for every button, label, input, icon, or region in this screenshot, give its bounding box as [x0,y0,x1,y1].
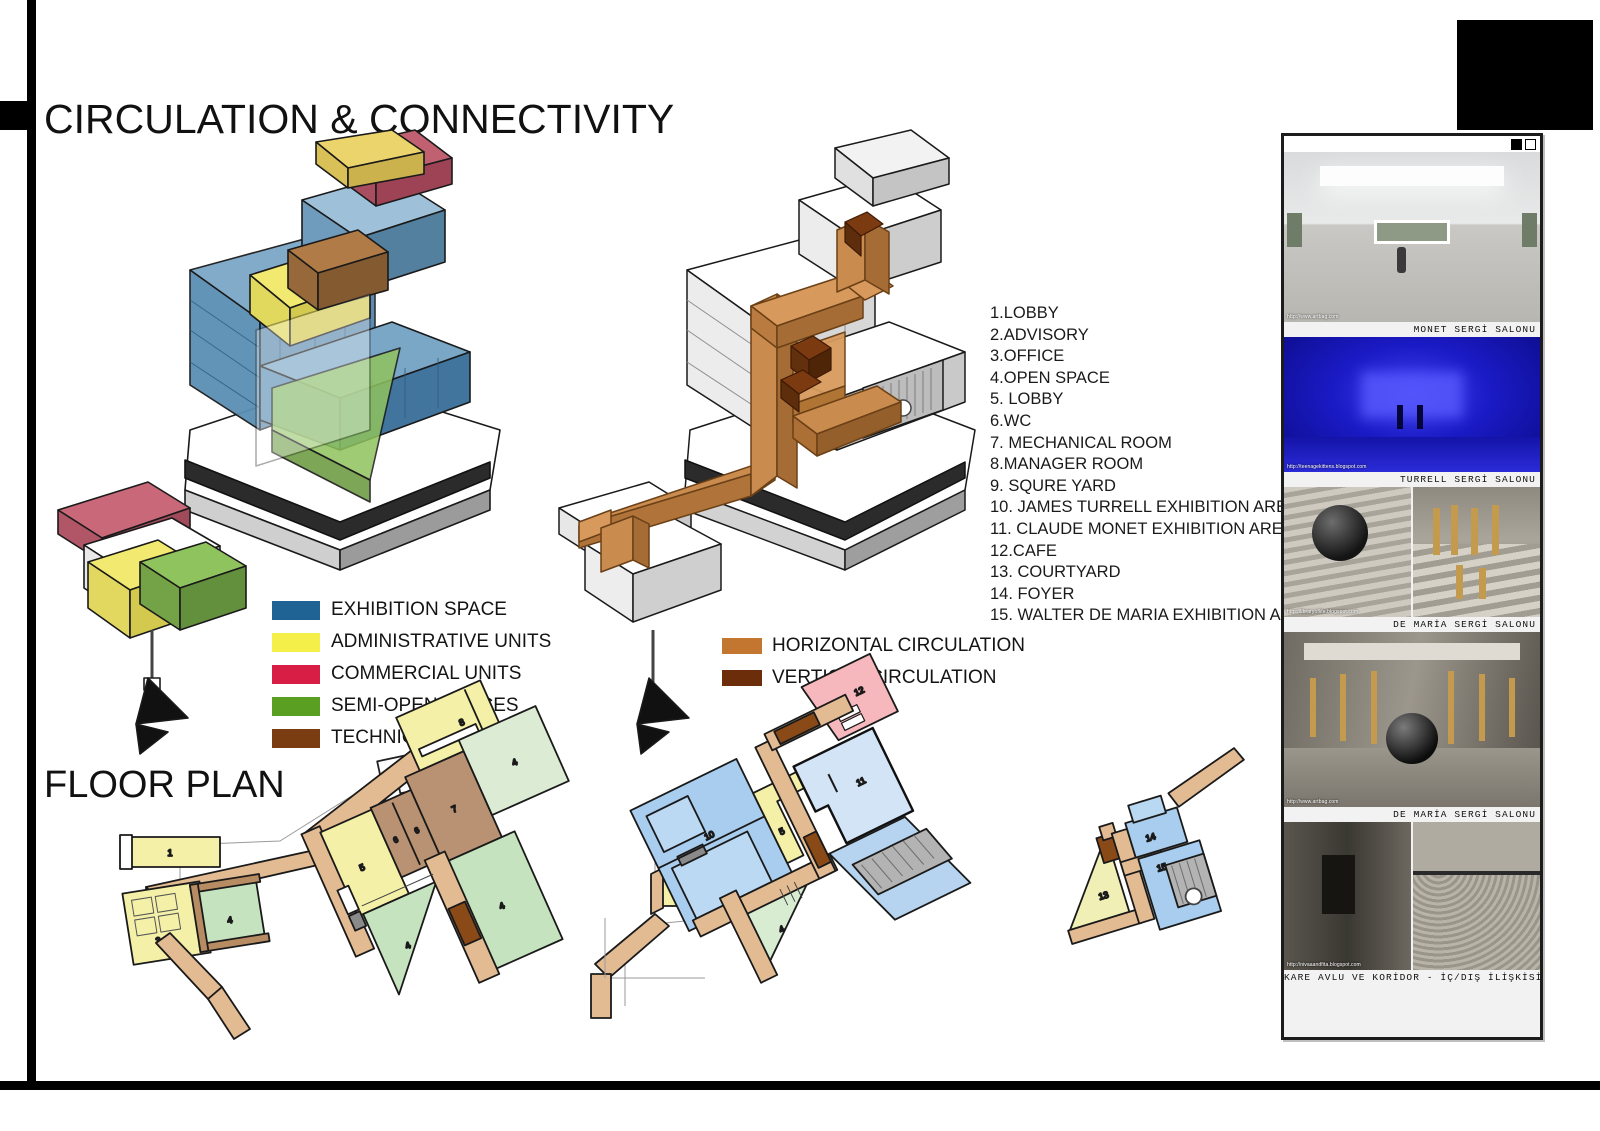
room-legend-item: 1.LOBBY [990,303,1300,325]
photo-caption-courtyard: KARE AVLU VE KORİDOR - İÇ/DIŞ İLİŞKİSİ [1284,970,1540,985]
floor-plan-level-3: 13 14 15 [1040,800,1270,940]
legend-swatch [722,670,762,686]
legend-label: COMMERCIAL UNITS [331,663,521,685]
de-maria-photo-pair: http://libraryoflife.blogspot.com [1284,487,1540,617]
floor-plan-level-2: 9 10 5 [565,728,965,1028]
legend-label: ADMINISTRATIVE UNITS [331,631,551,653]
turrell-gallery-photo: http://teenagekittens.blogspot.com [1284,337,1540,472]
legend-swatch [272,697,320,716]
legend-swatch [272,665,320,684]
top-right-black-block [1457,20,1593,130]
photo-source-url: http://www.artbag.com [1287,799,1339,805]
left-frame-bar [27,0,36,1090]
room-legend-item: 11. CLAUDE MONET EXHIBITION AREA [990,519,1300,541]
photo-source-url: http://nivaaandfita.blogspot.com [1287,962,1361,968]
legend-row-horizontal-circulation: HORIZONTAL CIRCULATION [722,630,1025,662]
room-legend-item: 13. COURTYARD [990,562,1300,584]
room-legend-item: 5. LOBBY [990,389,1300,411]
legend-label: EXHIBITION SPACE [331,599,507,621]
reference-image-panel: http://www.artbag.com MONET SERGİ SALONU… [1281,133,1543,1040]
legend-row-commercial-units: COMMERCIAL UNITS [272,658,551,690]
legend-swatch [722,638,762,654]
room-legend-item: 14. FOYER [990,584,1300,606]
room-legend-item: 2.ADVISORY [990,325,1300,347]
de-maria-rods-photo [1413,487,1540,617]
legend-row-exhibition-space: EXHIBITION SPACE [272,594,551,626]
monet-gallery-photo: http://www.artbag.com [1284,152,1540,322]
room-legend-item: 15. WALTER DE MARIA EXHIBITION AREA [990,605,1300,627]
photo-caption-de-maria-1: DE MARİA SERGİ SALONU [1284,617,1540,632]
legend-swatch [272,601,320,620]
room-legend-item: 6.WC [990,411,1300,433]
photo-source-url: http://teenagekittens.blogspot.com [1287,464,1367,470]
plan-room-number: 1 [167,848,172,858]
room-legend-item: 4.OPEN SPACE [990,368,1300,390]
photo-source-url: http://libraryoflife.blogspot.com [1287,609,1358,615]
de-maria-hall-photo: http://www.artbag.com [1284,632,1540,807]
room-legend-item: 9. SQURE YARD [990,476,1300,498]
floor-plan-level-1: 1 3 4 [120,735,580,1055]
courtyard-photo-pair: http://nivaaandfita.blogspot.com [1284,822,1540,970]
legend-swatch [272,633,320,652]
courtyard-gravel-photo [1413,822,1540,970]
photo-caption-turrell: TURRELL SERGİ SALONU [1284,472,1540,487]
room-legend-item: 3.OFFICE [990,346,1300,368]
room-legend: 1.LOBBY 2.ADVISORY 3.OFFICE 4.OPEN SPACE… [990,303,1300,627]
photo-caption-monet: MONET SERGİ SALONU [1284,322,1540,337]
panel-title-bar [1284,136,1540,152]
room-legend-item: 12.CAFE [990,541,1300,563]
window-maximize-icon[interactable] [1525,139,1536,150]
room-legend-item: 7. MECHANICAL ROOM [990,433,1300,455]
courtyard-corridor-photo: http://nivaaandfita.blogspot.com [1284,822,1411,970]
photo-caption-de-maria-2: DE MARİA SERGİ SALONU [1284,807,1540,822]
room-legend-item: 8.MANAGER ROOM [990,454,1300,476]
photo-source-url: http://www.artbag.com [1287,314,1339,320]
legend-row-administrative-units: ADMINISTRATIVE UNITS [272,626,551,658]
bottom-frame-bar [0,1081,1600,1090]
legend-label: HORIZONTAL CIRCULATION [772,635,1025,657]
de-maria-sphere-photo: http://libraryoflife.blogspot.com [1284,487,1411,617]
presentation-board: CIRCULATION & CONNECTIVITY FLOOR PLAN [0,0,1600,1131]
window-minimize-icon[interactable] [1511,139,1522,150]
left-frame-stub [0,101,36,130]
room-legend-item: 10. JAMES TURRELL EXHIBITION AREA [990,497,1300,519]
